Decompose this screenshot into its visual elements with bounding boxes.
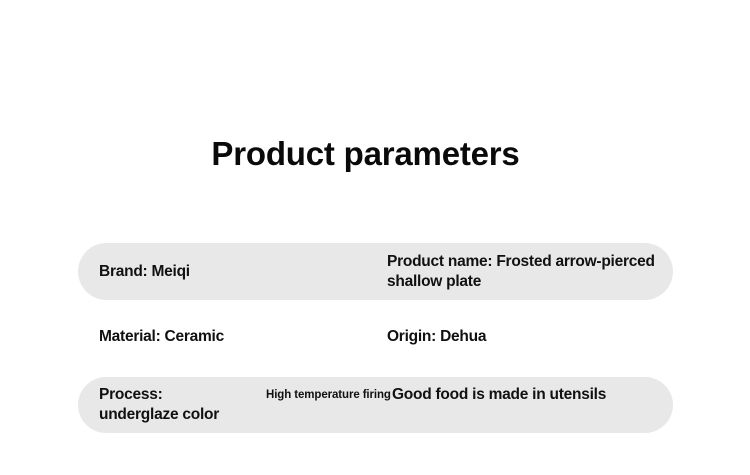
product-parameters-panel: Product parameters Brand: Meiqi Product … — [0, 0, 750, 475]
spec-cell-origin: Origin: Dehua — [387, 327, 486, 347]
spec-cell-firing: High temperature firing — [266, 388, 391, 402]
spec-cell-process: Process: underglaze color — [99, 385, 219, 425]
spec-row: Brand: Meiqi Product name: Frosted arrow… — [78, 243, 673, 300]
spec-row: Material: Ceramic Origin: Dehua — [78, 318, 673, 358]
page-title: Product parameters — [0, 134, 731, 174]
spec-cell-product-name: Product name: Frosted arrow-pierced shal… — [387, 252, 707, 292]
spec-cell-brand: Brand: Meiqi — [99, 262, 190, 282]
spec-cell-slogan: Good food is made in utensils — [392, 385, 682, 405]
spec-row: Process: underglaze color High temperatu… — [78, 377, 673, 433]
spec-cell-material: Material: Ceramic — [99, 327, 224, 347]
